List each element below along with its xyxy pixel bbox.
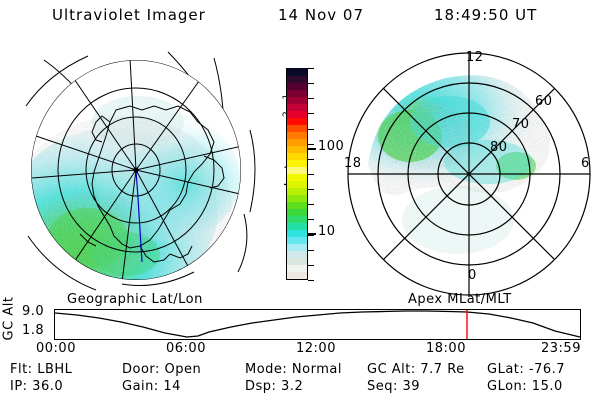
mlt-dial-svg xyxy=(338,44,596,296)
status-glat: GLat: -76.7 xyxy=(487,362,565,377)
colorbar-band xyxy=(287,187,307,195)
colorbar-band xyxy=(287,89,307,97)
colorbar-band xyxy=(287,96,307,104)
orbit-plot-area xyxy=(54,309,581,340)
colorbar-tick xyxy=(308,204,314,205)
colorbar-tick xyxy=(308,174,314,175)
uvi-display-window: Ultraviolet Imager 14 Nov 07 18:49:50 UT xyxy=(0,0,600,400)
colorbar-band xyxy=(287,236,307,244)
colorbar-band xyxy=(287,145,307,153)
colorbar-band xyxy=(287,271,307,279)
colorbar-band xyxy=(287,201,307,209)
colorbar-band xyxy=(287,208,307,216)
geographic-map-canvas xyxy=(18,48,268,293)
colorbar-major-tick xyxy=(308,233,316,235)
colorbar-band xyxy=(287,166,307,174)
observation-date: 14 Nov 07 xyxy=(278,6,364,24)
status-ip: IP: 36.0 xyxy=(10,379,63,394)
colorbar-tick xyxy=(308,113,314,114)
observation-time: 18:49:50 UT xyxy=(434,6,537,24)
pole-marker xyxy=(133,167,138,172)
mlt-panel-title: Apex MLat/MLT xyxy=(408,292,512,307)
colorbar-ticks xyxy=(308,68,316,280)
status-mode: Mode: Normal xyxy=(245,362,342,377)
orbit-ytick-high: 9.0 xyxy=(22,304,44,319)
colorbar-gradient xyxy=(286,68,308,280)
colorbar-band xyxy=(287,173,307,181)
mlt-label-18: 18 xyxy=(344,156,362,171)
colorbar-band xyxy=(287,68,307,76)
mlt-dial-panel: 12 6 0 18 60 70 80 xyxy=(338,44,596,296)
status-seq: Seq: 39 xyxy=(367,379,420,394)
colorbar-band xyxy=(287,243,307,251)
mlt-label-6: 6 xyxy=(581,156,590,171)
mlat-label-80: 80 xyxy=(490,140,508,155)
status-glon: GLon: 15.0 xyxy=(487,379,563,394)
colorbar-tick xyxy=(308,159,314,160)
colorbar-band xyxy=(287,138,307,146)
orbit-xtick-0: 00:00 xyxy=(36,341,76,356)
header-bar: Ultraviolet Imager 14 Nov 07 18:49:50 UT xyxy=(0,6,600,30)
colorbar-band xyxy=(287,215,307,223)
colorbar-band xyxy=(287,250,307,258)
status-row-2: IP: 36.0 Gain: 14 Dsp: 3.2 Seq: 39 GLon:… xyxy=(0,379,600,396)
status-door: Door: Open xyxy=(122,362,201,377)
colorbar-band xyxy=(287,222,307,230)
orbit-xtick-2: 12:00 xyxy=(296,341,336,356)
colorbar-major-tick xyxy=(308,148,316,150)
status-dsp: Dsp: 3.2 xyxy=(245,379,303,394)
colorbar-band xyxy=(287,152,307,160)
colorbar-tick xyxy=(308,129,314,130)
orbit-altitude-chart xyxy=(55,310,580,339)
orbit-altitude-panel: Geographic Lat/Lon Apex MLat/MLT GC Alt … xyxy=(0,293,600,355)
status-flt: Flt: LBHL xyxy=(10,362,72,377)
colorbar-band xyxy=(287,131,307,139)
orbit-xtick-4: 23:59 xyxy=(541,341,581,356)
colorbar-tick xyxy=(308,265,314,266)
colorbar-band xyxy=(287,194,307,202)
mlt-label-12: 12 xyxy=(466,50,484,65)
status-bar: Flt: LBHL Door: Open Mode: Normal GC Alt… xyxy=(0,362,600,400)
colorbar-band xyxy=(287,110,307,118)
mlat-label-70: 70 xyxy=(512,117,530,132)
instrument-title: Ultraviolet Imager xyxy=(52,6,206,24)
geographic-panel-title: Geographic Lat/Lon xyxy=(67,292,203,307)
geographic-map-panel xyxy=(18,48,268,293)
colorbar-band xyxy=(287,124,307,132)
status-gain: Gain: 14 xyxy=(122,379,181,394)
colorbar-band xyxy=(287,257,307,265)
colorbar-band xyxy=(287,117,307,125)
colorbar-tick xyxy=(308,98,314,99)
mlat-label-60: 60 xyxy=(535,94,553,109)
colorbar-tick xyxy=(308,250,314,251)
colorbar-tick-label: 10 xyxy=(318,224,336,239)
colorbar-band xyxy=(287,229,307,237)
orbit-y-axis-label: GC Alt xyxy=(2,291,17,347)
colorbar-band xyxy=(287,75,307,83)
colorbar-tick xyxy=(308,83,314,84)
status-gcalt: GC Alt: 7.7 Re xyxy=(367,362,465,377)
colorbar-band xyxy=(287,82,307,90)
colorbar-band xyxy=(287,103,307,111)
colorbar-tick xyxy=(308,189,314,190)
mlt-grid xyxy=(348,53,590,295)
colorbar-band xyxy=(287,180,307,188)
colorbar-tick xyxy=(308,144,314,145)
orbit-xtick-3: 18:00 xyxy=(426,341,466,356)
mlt-label-0: 0 xyxy=(468,268,477,283)
status-row-1: Flt: LBHL Door: Open Mode: Normal GC Alt… xyxy=(0,362,600,379)
orbit-ytick-low: 1.8 xyxy=(22,323,44,338)
colorbar-tick xyxy=(308,68,314,69)
colorbar-band xyxy=(287,264,307,272)
colorbar-tick xyxy=(308,219,314,220)
colorbar-band xyxy=(287,159,307,167)
geographic-map-svg xyxy=(18,48,268,293)
colorbar-tick xyxy=(308,280,314,281)
orbit-altitude-line xyxy=(55,311,580,337)
orbit-xtick-1: 06:00 xyxy=(166,341,206,356)
